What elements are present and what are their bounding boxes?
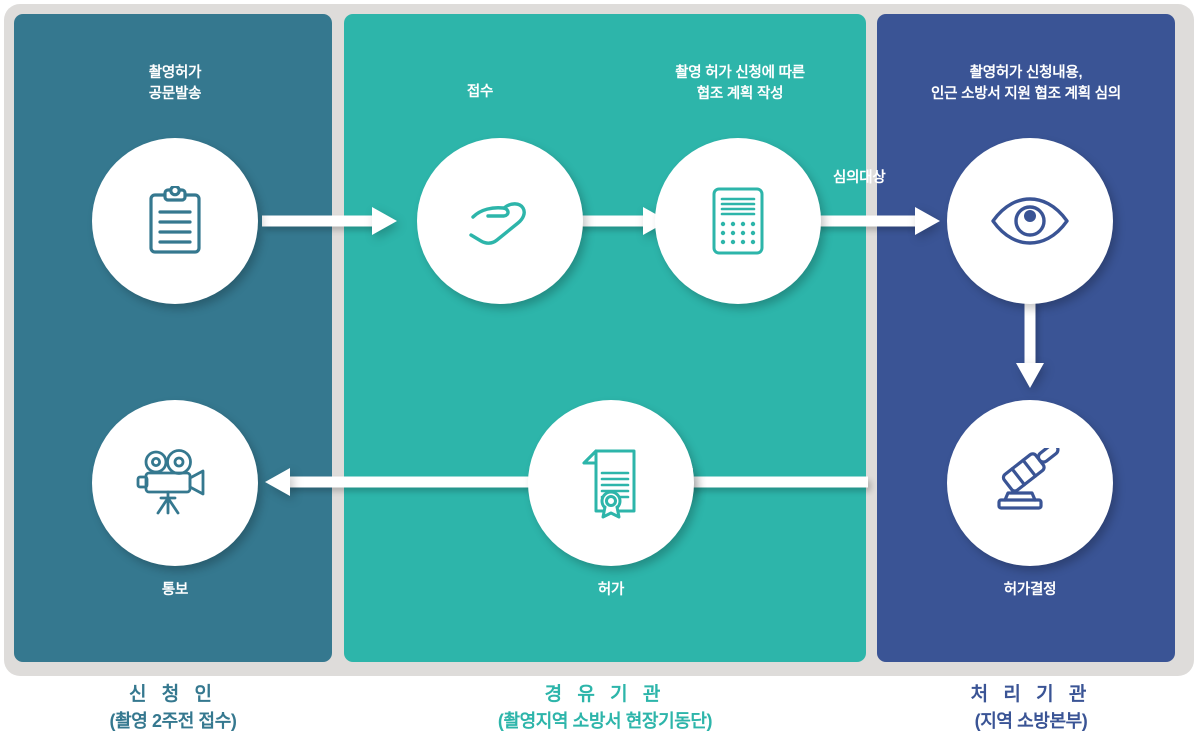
legend-via: 경 유 기 관 (촬영지역 소방서 현장기동단) — [345, 682, 865, 734]
legend-handler: 처 리 기 관 (지역 소방본부) — [886, 682, 1176, 734]
node-caption-n7: 통보 — [115, 580, 235, 601]
flowchart-diagram: 촬영허가 공문발송 접수 촬영 허가 신청에 따른 협조 계획 작성 촬영허가 … — [0, 0, 1200, 750]
plan-document-icon — [709, 185, 767, 257]
node-n7-notification[interactable] — [92, 400, 258, 566]
legend-handler-title: 처 리 기 관 — [886, 682, 1176, 708]
node-caption-n6: 허가 — [551, 580, 671, 601]
clipboard-icon — [145, 186, 205, 256]
legend-applicant-title: 신 청 인 — [23, 682, 323, 708]
node-n6-permit-issued[interactable] — [528, 400, 694, 566]
legend-via-subtitle: (촬영지역 소방서 현장기동단) — [345, 708, 865, 734]
node-n3-cooperation-plan[interactable] — [655, 138, 821, 304]
certificate-icon — [580, 447, 642, 519]
node-caption-n5: 허가결정 — [970, 580, 1090, 601]
node-caption-n2: 접수 — [420, 82, 540, 103]
node-n4-deliberation[interactable] — [947, 138, 1113, 304]
arrow-n5-to-n6 — [668, 468, 868, 496]
gavel-icon — [991, 448, 1069, 518]
arrow-n6-to-n7 — [265, 468, 530, 496]
arrow-n1-to-n2 — [262, 207, 397, 235]
node-caption-n3: 촬영 허가 신청에 따른 협조 계획 작성 — [620, 63, 860, 105]
node-caption-n1: 촬영허가 공문발송 — [95, 63, 255, 105]
arrow-n4-to-n5 — [1016, 300, 1044, 388]
arrow-n2-to-n3 — [570, 207, 668, 235]
legend-via-title: 경 유 기 관 — [345, 682, 865, 708]
eye-review-icon — [989, 195, 1071, 247]
arrow-n3-to-n4 — [800, 207, 940, 235]
movie-camera-icon — [135, 449, 215, 517]
legend-applicant: 신 청 인 (촬영 2주전 접수) — [23, 682, 323, 734]
node-n5-permit-decision[interactable] — [947, 400, 1113, 566]
node-n2-receipt[interactable] — [417, 138, 583, 304]
legend-handler-subtitle: (지역 소방본부) — [886, 708, 1176, 734]
node-caption-n4: 촬영허가 신청내용, 인근 소방서 지원 협조 계획 심의 — [886, 63, 1166, 105]
hand-receive-icon — [463, 190, 537, 252]
legend-applicant-subtitle: (촬영 2주전 접수) — [23, 708, 323, 734]
node-n1-document-dispatch[interactable] — [92, 138, 258, 304]
edge-label-review-target: 심의대상 — [833, 166, 886, 187]
